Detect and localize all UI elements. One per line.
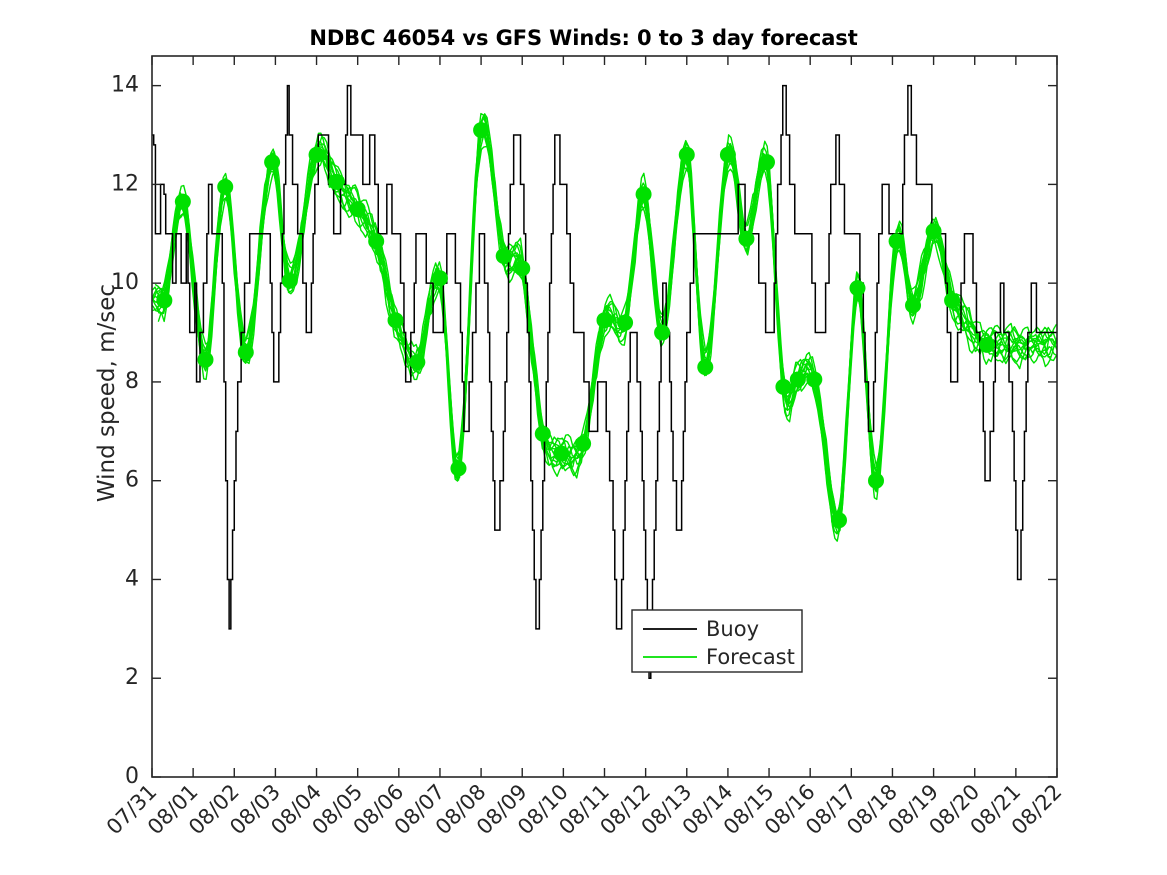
legend-label-buoy: Buoy (706, 617, 759, 641)
forecast-marker (432, 270, 448, 286)
forecast-marker (496, 248, 512, 264)
forecast-marker (450, 460, 466, 476)
forecast-marker (926, 223, 942, 239)
y-tick-label: 6 (125, 468, 139, 493)
forecast-marker (905, 297, 921, 313)
y-tick-label: 14 (111, 73, 139, 98)
forecast-marker (575, 436, 591, 452)
forecast-marker (831, 512, 847, 528)
y-tick-label: 2 (125, 665, 139, 690)
y-tick-label: 4 (125, 566, 139, 591)
forecast-marker (775, 379, 791, 395)
y-tick-label: 8 (125, 369, 139, 394)
forecast-marker (738, 231, 754, 247)
forecast-marker (806, 371, 822, 387)
forecast-marker (309, 147, 325, 163)
forecast-marker (790, 371, 806, 387)
forecast-marker (617, 315, 633, 331)
y-tick-label: 12 (111, 171, 139, 196)
forecast-marker (654, 325, 670, 341)
forecast-marker (697, 359, 713, 375)
forecast-marker (238, 344, 254, 360)
forecast-marker (979, 337, 995, 353)
forecast-marker (217, 179, 233, 195)
forecast-marker (889, 233, 905, 249)
forecast-marker (328, 174, 344, 190)
forecast-marker (175, 194, 191, 210)
forecast-marker (409, 354, 425, 370)
y-tick-label: 0 (125, 764, 139, 789)
forecast-marker (473, 122, 489, 138)
y-tick-label: 10 (111, 270, 139, 295)
forecast-marker (849, 280, 865, 296)
forecast-marker (679, 147, 695, 163)
forecast-marker (944, 292, 960, 308)
forecast-marker (388, 312, 404, 328)
forecast-marker (597, 312, 613, 328)
forecast-marker (535, 426, 551, 442)
chart-legend[interactable]: Buoy Forecast (632, 610, 802, 672)
forecast-marker (514, 260, 530, 276)
forecast-marker (720, 147, 736, 163)
forecast-marker (282, 273, 298, 289)
legend-label-forecast: Forecast (706, 645, 795, 669)
chart-figure: NDBC 46054 vs GFS Winds: 0 to 3 day fore… (0, 0, 1167, 875)
plot-background (152, 56, 1057, 777)
forecast-marker (197, 352, 213, 368)
forecast-marker (636, 186, 652, 202)
forecast-marker (350, 201, 366, 217)
forecast-marker (868, 473, 884, 489)
forecast-marker (156, 292, 172, 308)
forecast-marker (553, 446, 569, 462)
forecast-marker (759, 154, 775, 170)
forecast-marker (368, 233, 384, 249)
forecast-marker (264, 154, 280, 170)
plot-area: 02468101214 07/3108/0108/0208/0308/0408/… (0, 0, 1167, 875)
